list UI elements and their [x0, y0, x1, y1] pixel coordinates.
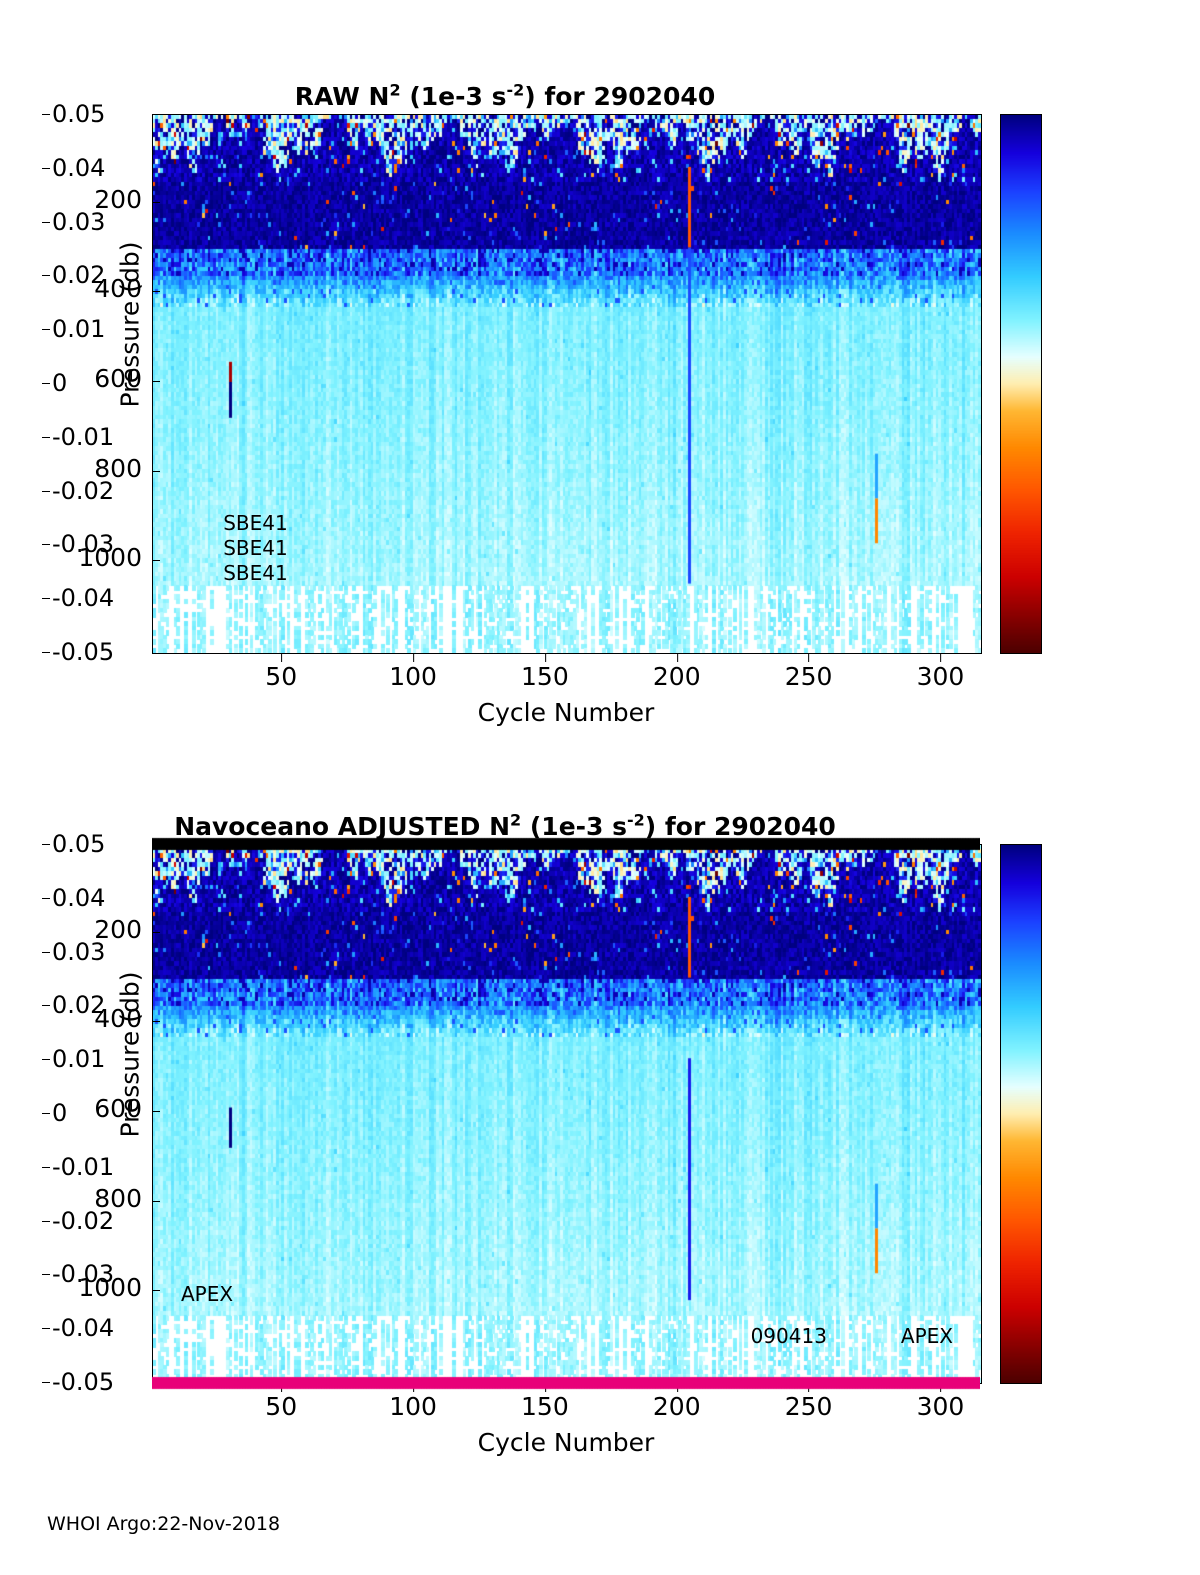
tick-mark — [281, 1384, 282, 1392]
adjusted-colorbar-tick-1: 0.04 — [52, 884, 105, 912]
raw-colorbar-tick-2: 0.03 — [52, 208, 105, 236]
raw-x-axis-label: Cycle Number — [152, 698, 980, 727]
tick-mark — [42, 1221, 50, 1222]
adjusted-title-suffix: ) for 2902040 — [645, 812, 836, 841]
adjusted-colorbar-gradient — [1001, 845, 1041, 1383]
adjusted-y-tick-label: 600 — [94, 1094, 142, 1123]
raw-colorbar-tick-1: 0.04 — [52, 154, 105, 182]
tick-mark — [940, 1384, 941, 1392]
raw-x-tick-100: 100 — [389, 662, 437, 691]
adjusted-colorbar-tick-0: 0.05 — [52, 830, 105, 858]
adjusted-x-tick-label: 250 — [785, 1392, 833, 1421]
tick-mark — [42, 952, 50, 953]
tick-mark — [152, 1290, 160, 1291]
adjusted-y-axis-label: Pressure (db) — [116, 905, 145, 1205]
raw-annotation-sbe41: SBE41 — [223, 561, 288, 585]
adjusted-title-mid: (1e-3 s — [521, 812, 627, 841]
raw-title-sup-squared: 2 — [389, 81, 400, 100]
tick-mark — [42, 844, 50, 845]
adjusted-plot-title: Navoceano ADJUSTED N2 (1e-3 s-2) for 290… — [0, 812, 1010, 841]
raw-title-sup-exp: -2 — [506, 81, 524, 100]
adjusted-x-tick-100: 100 — [389, 1392, 437, 1421]
adjusted-colorbar-tick-3: 0.02 — [52, 991, 105, 1019]
tick-mark — [677, 654, 678, 662]
tick-mark — [152, 291, 160, 292]
adjusted-colorbar-tick-8: -0.03 — [52, 1260, 114, 1288]
adjusted-heatmap-axes[interactable] — [152, 844, 982, 1384]
raw-title-prefix: RAW N — [295, 82, 390, 111]
adjusted-colorbar-tick-5: 0 — [52, 1099, 67, 1127]
adjusted-x-tick-label: 150 — [521, 1392, 569, 1421]
adjusted-colorbar-tick-2: 0.03 — [52, 938, 105, 966]
raw-colorbar-gradient — [1001, 115, 1041, 653]
raw-colorbar-tick-6: -0.01 — [52, 423, 114, 451]
raw-colorbar-tick-9: -0.04 — [52, 584, 114, 612]
raw-x-tick-250: 250 — [785, 662, 833, 691]
raw-colorbar-tick-4: 0.01 — [52, 315, 105, 343]
adjusted-colorbar-tick-10: -0.05 — [52, 1368, 114, 1396]
raw-colorbar-tick-0: 0.05 — [52, 100, 105, 128]
adjusted-x-tick-300: 300 — [917, 1392, 965, 1421]
tick-mark — [42, 114, 50, 115]
adjusted-colorbar-tick-7: -0.02 — [52, 1207, 114, 1235]
raw-x-tick-150: 150 — [521, 662, 569, 691]
raw-colorbar-tick-7: -0.02 — [52, 477, 114, 505]
adjusted-colorbar-tick-9: -0.04 — [52, 1314, 114, 1342]
raw-x-tick-300: 300 — [917, 662, 965, 691]
tick-mark — [42, 1005, 50, 1006]
tick-mark — [42, 1274, 50, 1275]
tick-mark — [152, 381, 160, 382]
tick-mark — [152, 1111, 160, 1112]
tick-mark — [42, 544, 50, 545]
tick-mark — [42, 1382, 50, 1383]
panel-adjusted: Navoceano ADJUSTED N2 (1e-3 s-2) for 290… — [0, 790, 1200, 1490]
tick-mark — [42, 898, 50, 899]
argo-n2-figure: RAW N2 (1e-3 s-2) for 2902040 Pressure (… — [0, 0, 1200, 1575]
raw-y-tick-label: 600 — [94, 364, 142, 393]
tick-mark — [940, 654, 941, 662]
tick-mark — [413, 654, 414, 662]
adjusted-x-tick-label: 100 — [389, 1392, 437, 1421]
tick-mark — [42, 1328, 50, 1329]
raw-x-tick-label: 250 — [785, 662, 833, 691]
tick-mark — [152, 471, 160, 472]
tick-mark — [152, 1201, 160, 1202]
adjusted-title-sup-exp: -2 — [627, 811, 645, 830]
adjusted-heatmap-canvas — [153, 845, 981, 1383]
tick-mark — [152, 932, 160, 933]
tick-mark — [42, 222, 50, 223]
raw-colorbar[interactable] — [1000, 114, 1042, 654]
panel-raw: RAW N2 (1e-3 s-2) for 2902040 Pressure (… — [0, 60, 1200, 760]
raw-x-tick-label: 150 — [521, 662, 569, 691]
raw-y-axis-label: Pressure (db) — [116, 175, 145, 475]
raw-x-tick-200: 200 — [653, 662, 701, 691]
tick-mark — [413, 1384, 414, 1392]
raw-annotation-sbe41: SBE41 — [223, 536, 288, 560]
tick-mark — [42, 329, 50, 330]
adjusted-colorbar[interactable] — [1000, 844, 1042, 1384]
raw-colorbar-tick-5: 0 — [52, 369, 67, 397]
tick-mark — [152, 202, 160, 203]
tick-mark — [42, 1167, 50, 1168]
tick-mark — [42, 491, 50, 492]
tick-mark — [545, 654, 546, 662]
raw-colorbar-tick-10: -0.05 — [52, 638, 114, 666]
raw-x-tick-label: 50 — [265, 662, 297, 691]
tick-mark — [42, 598, 50, 599]
adjusted-annotation-090413: 090413 — [751, 1324, 827, 1348]
adjusted-x-tick-150: 150 — [521, 1392, 569, 1421]
raw-colorbar-tick-3: 0.02 — [52, 261, 105, 289]
adjusted-title-sup-squared: 2 — [510, 811, 521, 830]
tick-mark — [42, 437, 50, 438]
tick-mark — [42, 652, 50, 653]
adjusted-x-tick-label: 300 — [917, 1392, 965, 1421]
adjusted-x-tick-50: 50 — [265, 1392, 297, 1421]
adjusted-colorbar-tick-4: 0.01 — [52, 1045, 105, 1073]
raw-title-mid: (1e-3 s — [401, 82, 507, 111]
adjusted-colorbar-tick-6: -0.01 — [52, 1153, 114, 1181]
raw-title-suffix: ) for 2902040 — [524, 82, 715, 111]
tick-mark — [545, 1384, 546, 1392]
adjusted-title-prefix: Navoceano ADJUSTED N — [174, 812, 510, 841]
raw-x-tick-label: 300 — [917, 662, 965, 691]
figure-footer: WHOI Argo:22-Nov-2018 — [47, 1513, 280, 1535]
tick-mark — [809, 1384, 810, 1392]
raw-colorbar-tick-8: -0.03 — [52, 530, 114, 558]
tick-mark — [809, 654, 810, 662]
tick-mark — [281, 654, 282, 662]
tick-mark — [42, 383, 50, 384]
tick-mark — [42, 1059, 50, 1060]
adjusted-annotation-apex: APEX — [901, 1324, 953, 1348]
tick-mark — [42, 275, 50, 276]
raw-annotation-sbe41: SBE41 — [223, 511, 288, 535]
adjusted-x-axis-label: Cycle Number — [152, 1428, 980, 1457]
raw-x-tick-50: 50 — [265, 662, 297, 691]
adjusted-x-tick-label: 50 — [265, 1392, 297, 1421]
adjusted-x-tick-label: 200 — [653, 1392, 701, 1421]
tick-mark — [42, 1113, 50, 1114]
raw-x-tick-label: 200 — [653, 662, 701, 691]
raw-plot-title: RAW N2 (1e-3 s-2) for 2902040 — [0, 82, 1010, 111]
raw-x-tick-label: 100 — [389, 662, 437, 691]
tick-mark — [42, 168, 50, 169]
adjusted-annotation-apex: APEX — [181, 1282, 233, 1306]
tick-mark — [677, 1384, 678, 1392]
tick-mark — [152, 1021, 160, 1022]
adjusted-x-tick-250: 250 — [785, 1392, 833, 1421]
adjusted-x-tick-200: 200 — [653, 1392, 701, 1421]
tick-mark — [152, 560, 160, 561]
